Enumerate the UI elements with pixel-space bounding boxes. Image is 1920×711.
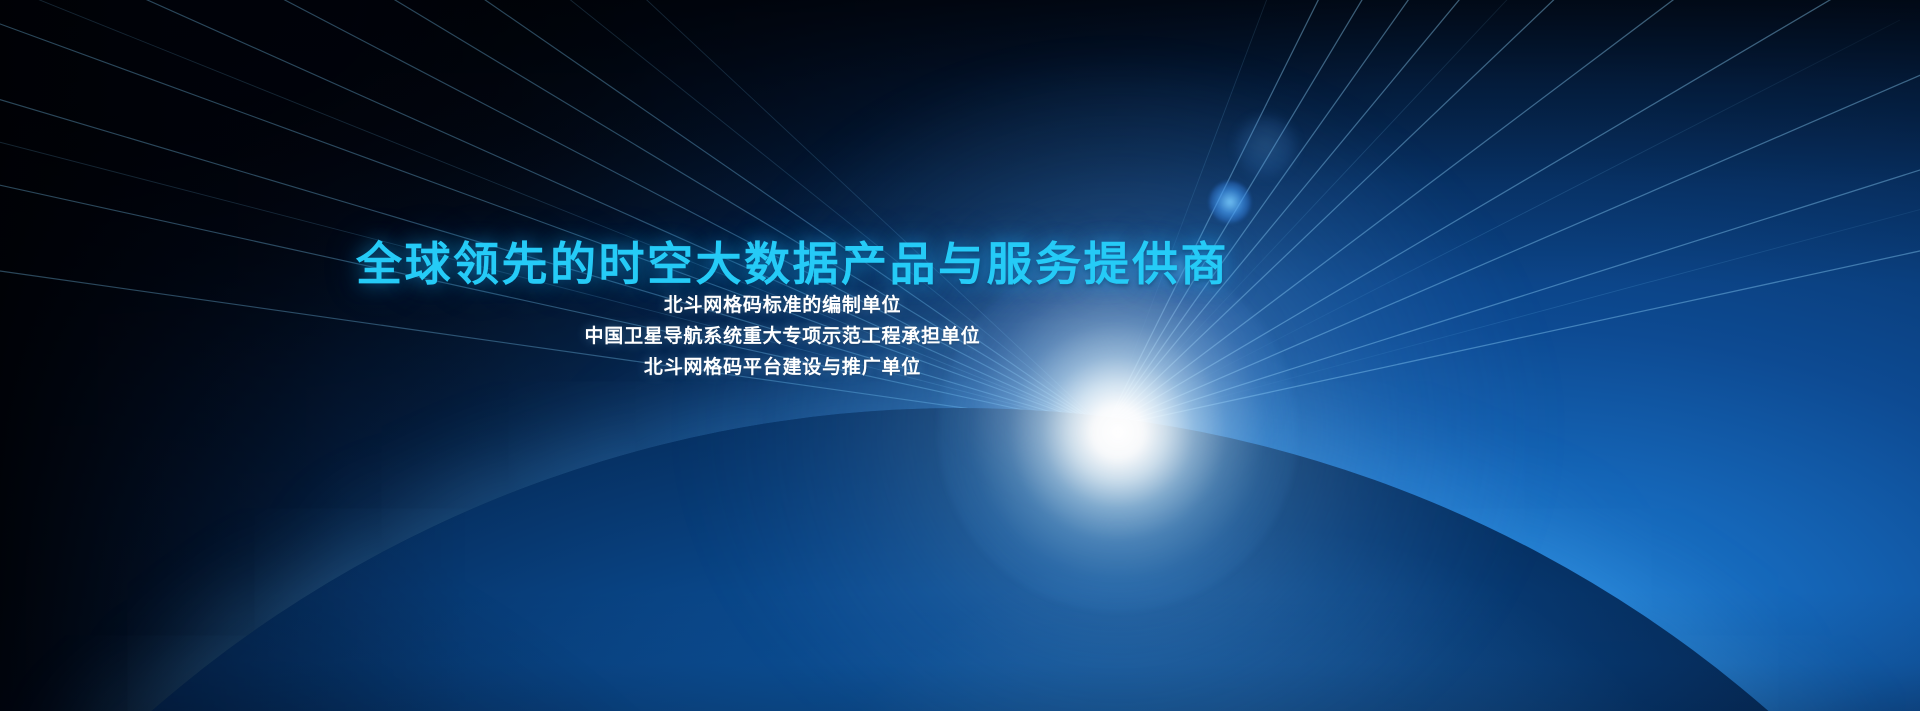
hero-banner: 全球领先的时空大数据产品与服务提供商 北斗网格码标准的编制单位 中国卫星导航系统… xyxy=(0,0,1920,711)
sun-glare-flare xyxy=(938,252,1298,612)
